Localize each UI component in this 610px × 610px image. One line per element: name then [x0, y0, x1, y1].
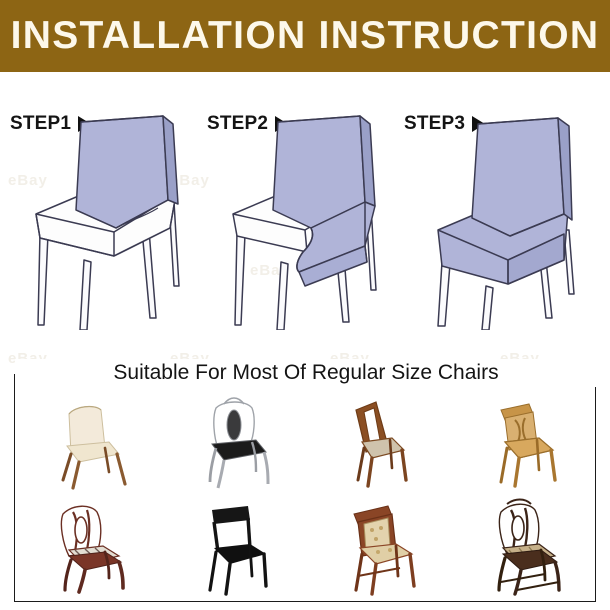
mahogany-chippendale-striped-seat-chair-icon: [35, 498, 141, 598]
chair-cell-black-slat-back-chair: [161, 495, 307, 601]
chair-grid: [15, 389, 597, 601]
dark-wood-keyhole-back-chair-icon: [326, 392, 432, 492]
chair-cell-cream-upholstered-chair: [15, 389, 161, 495]
suitable-chairs-panel: Suitable For Most Of Regular Size Chairs: [14, 374, 596, 602]
suitable-title-wrap: Suitable For Most Of Regular Size Chairs: [15, 359, 597, 387]
page-title: INSTALLATION INSTRUCTION: [11, 14, 600, 58]
step-block-2: STEP2: [197, 72, 397, 357]
cream-upholstered-chair-icon: [35, 392, 141, 492]
chair-cell-mahogany-chippendale-striped-seat-chair: [15, 495, 161, 601]
suitable-title: Suitable For Most Of Regular Size Chairs: [99, 359, 512, 387]
chair-cell-antique-dark-wood-tapestry-seat-chair: [452, 495, 598, 601]
step-block-1: STEP1: [0, 72, 200, 357]
chair-cell-dark-wood-keyhole-back-chair: [306, 389, 452, 495]
chair-illustration-step-2: [215, 110, 391, 330]
antique-dark-wood-tapestry-seat-chair-icon: [471, 498, 577, 598]
black-slat-back-chair-icon: [180, 498, 286, 598]
cherry-wood-floral-upholstered-chair-icon: [326, 498, 432, 598]
chair-cell-cherry-wood-floral-upholstered-chair: [306, 495, 452, 601]
chair-cell-light-oak-wood-chair: [452, 389, 598, 495]
light-oak-wood-chair-icon: [471, 392, 577, 492]
chair-cell-silver-ornate-black-seat-chair: [161, 389, 307, 495]
chair-illustration-step-1: [18, 110, 194, 330]
header-banner: INSTALLATION INSTRUCTION: [0, 0, 610, 72]
installation-steps-section: STEP1: [0, 72, 610, 357]
silver-ornate-black-seat-chair-icon: [180, 392, 286, 492]
step-block-3: STEP3: [394, 72, 594, 357]
chair-illustration-step-3: [412, 110, 588, 330]
